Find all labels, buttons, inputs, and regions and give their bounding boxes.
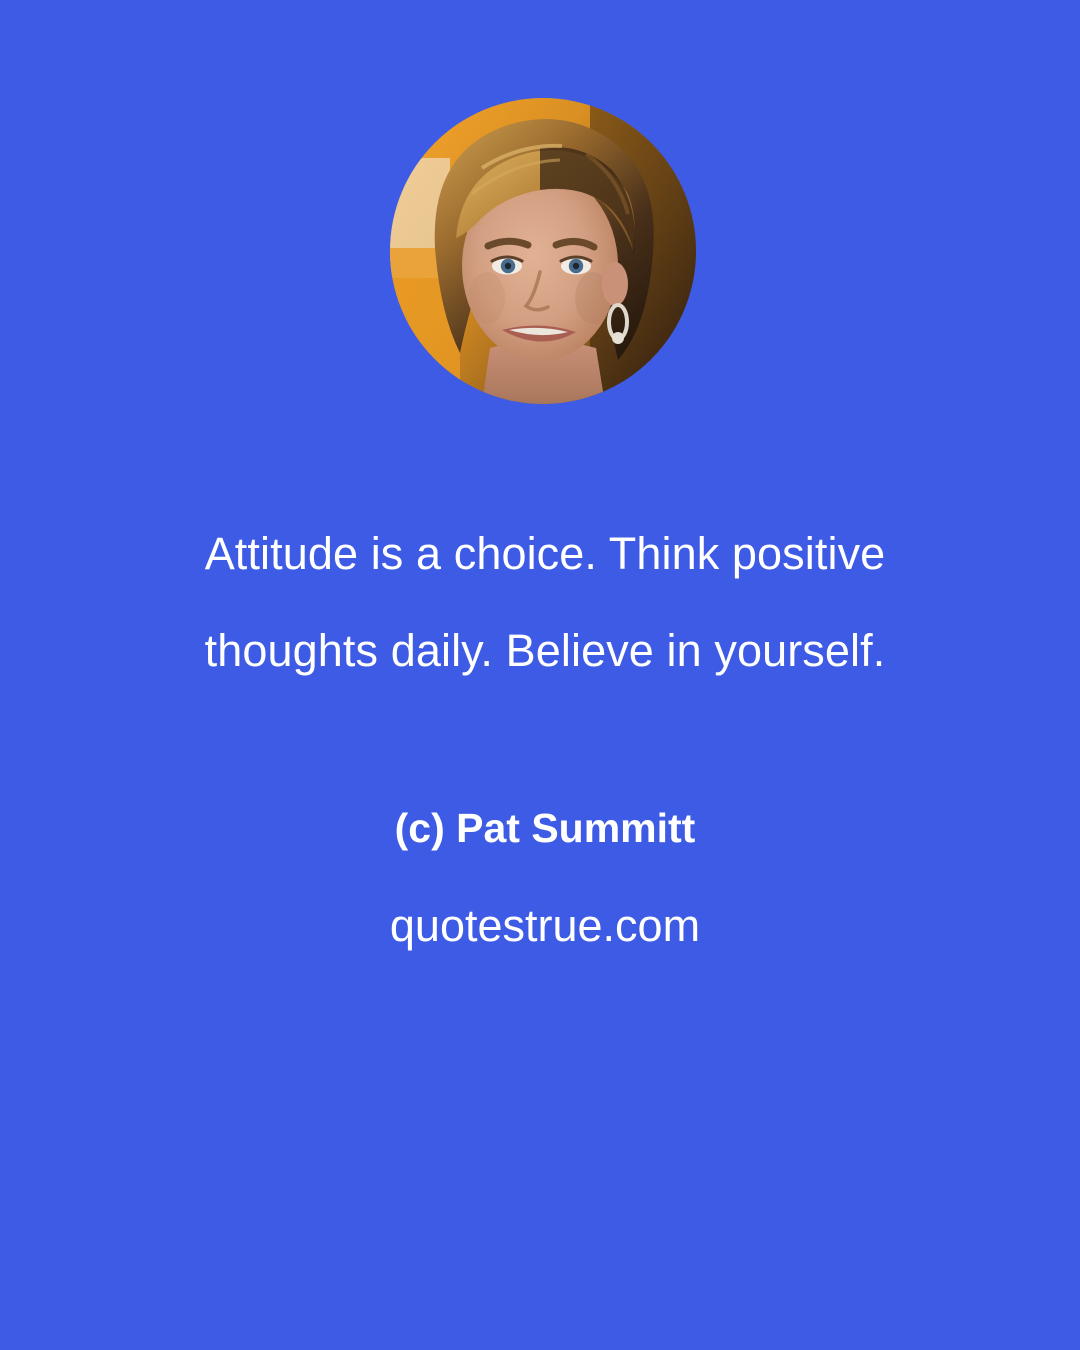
quote-line-1: Attitude is a choice. Think positive <box>140 505 950 602</box>
portrait-photo-icon <box>390 98 696 404</box>
source-site-url: quotestrue.com <box>140 903 950 948</box>
author-portrait-avatar <box>390 98 696 404</box>
quote-line-2: thoughts daily. Believe in yourself. <box>140 602 950 699</box>
source-site-block: quotestrue.com <box>140 903 950 948</box>
attribution-block: (c) Pat Summitt <box>140 808 950 849</box>
quote-card: Attitude is a choice. Think positive tho… <box>0 0 1080 1350</box>
quote-block: Attitude is a choice. Think positive tho… <box>140 505 950 699</box>
quote-author: (c) Pat Summitt <box>140 808 950 849</box>
